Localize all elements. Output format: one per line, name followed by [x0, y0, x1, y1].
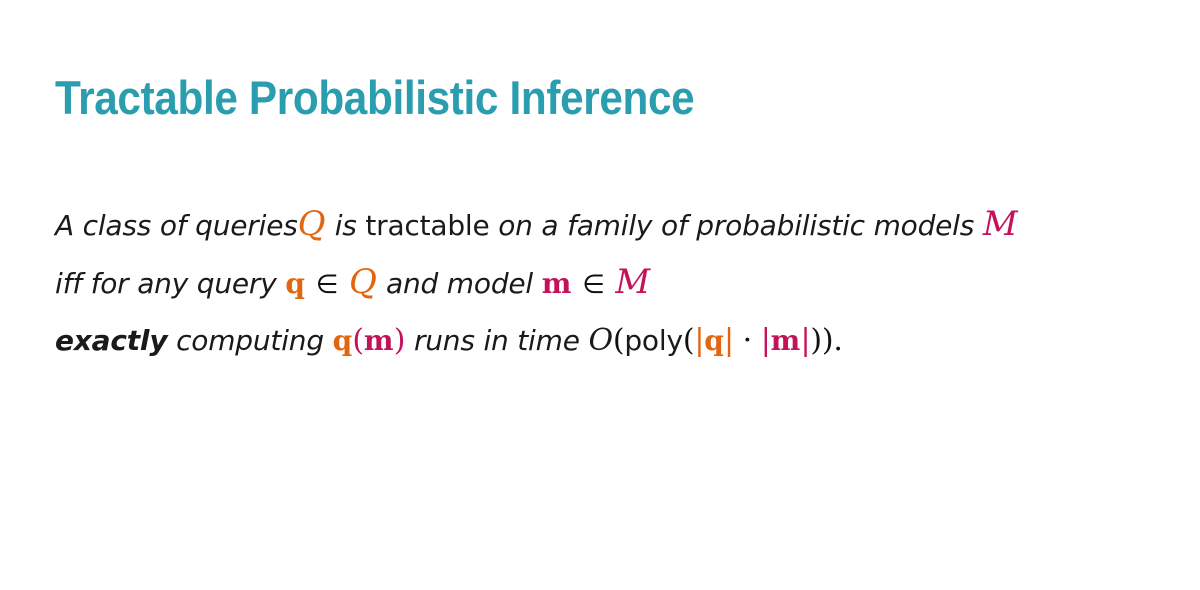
element-of-icon: ∈ [314, 270, 340, 300]
page-title: Tractable Probabilistic Inference [55, 74, 694, 121]
line1-text-d: on a family of probabilistic models [498, 209, 974, 242]
symbol-query-bold: q [704, 324, 724, 357]
abs-bar-open-q: | [694, 323, 704, 358]
symbol-model-bold: m [542, 267, 572, 300]
line1-text-tractable: tractable [365, 209, 489, 242]
symbol-query-bold: q [333, 324, 353, 357]
symbol-query-set-calligraphic: Q [298, 204, 326, 244]
paren-close: ) [394, 323, 406, 358]
symbol-model-bold: m [364, 324, 394, 357]
slide-canvas: Tractable Probabilistic Inference A clas… [0, 0, 1200, 590]
symbol-query-set-calligraphic: Q [349, 262, 377, 302]
definition-line-2: iff for any query q ∈ Q and model m ∈ M [55, 254, 1155, 313]
line3-text-runs-in-time: runs in time [414, 324, 580, 357]
cdot-operator: · [743, 323, 752, 358]
paren-open: ( [352, 323, 364, 358]
definition-line-3: exactly computing q(m) runs in time O(po… [55, 313, 1155, 369]
symbol-big-o: O [588, 323, 612, 358]
symbol-model-set-calligraphic: M [615, 262, 650, 302]
symbol-query-bold: q [285, 267, 305, 300]
definition-line-1: A class of queriesQ is tractable on a fa… [55, 196, 1155, 254]
abs-bar-open-m: | [761, 323, 771, 358]
poly-paren-close: ) [810, 323, 822, 358]
line3-emphasis-exactly: exactly [55, 324, 167, 357]
abs-bar-close-q: | [724, 323, 734, 358]
o-paren-open: ( [613, 323, 625, 358]
symbol-model-bold: m [771, 324, 801, 357]
line1-text-b: is [335, 209, 357, 242]
poly-label: poly [624, 324, 682, 357]
o-paren-close: ) [822, 323, 834, 358]
line2-text-b: and model [386, 267, 533, 300]
line2-text-a: iff for any query [55, 267, 277, 300]
line3-text-computing: computing [176, 324, 324, 357]
element-of-icon: ∈ [580, 270, 606, 300]
abs-bar-close-m: | [800, 323, 810, 358]
symbol-model-set-calligraphic: M [983, 204, 1018, 244]
poly-paren-open: ( [683, 323, 695, 358]
definition-body: A class of queriesQ is tractable on a fa… [55, 196, 1155, 369]
line1-text-a: A class of queries [55, 209, 298, 242]
period: . [833, 323, 842, 358]
